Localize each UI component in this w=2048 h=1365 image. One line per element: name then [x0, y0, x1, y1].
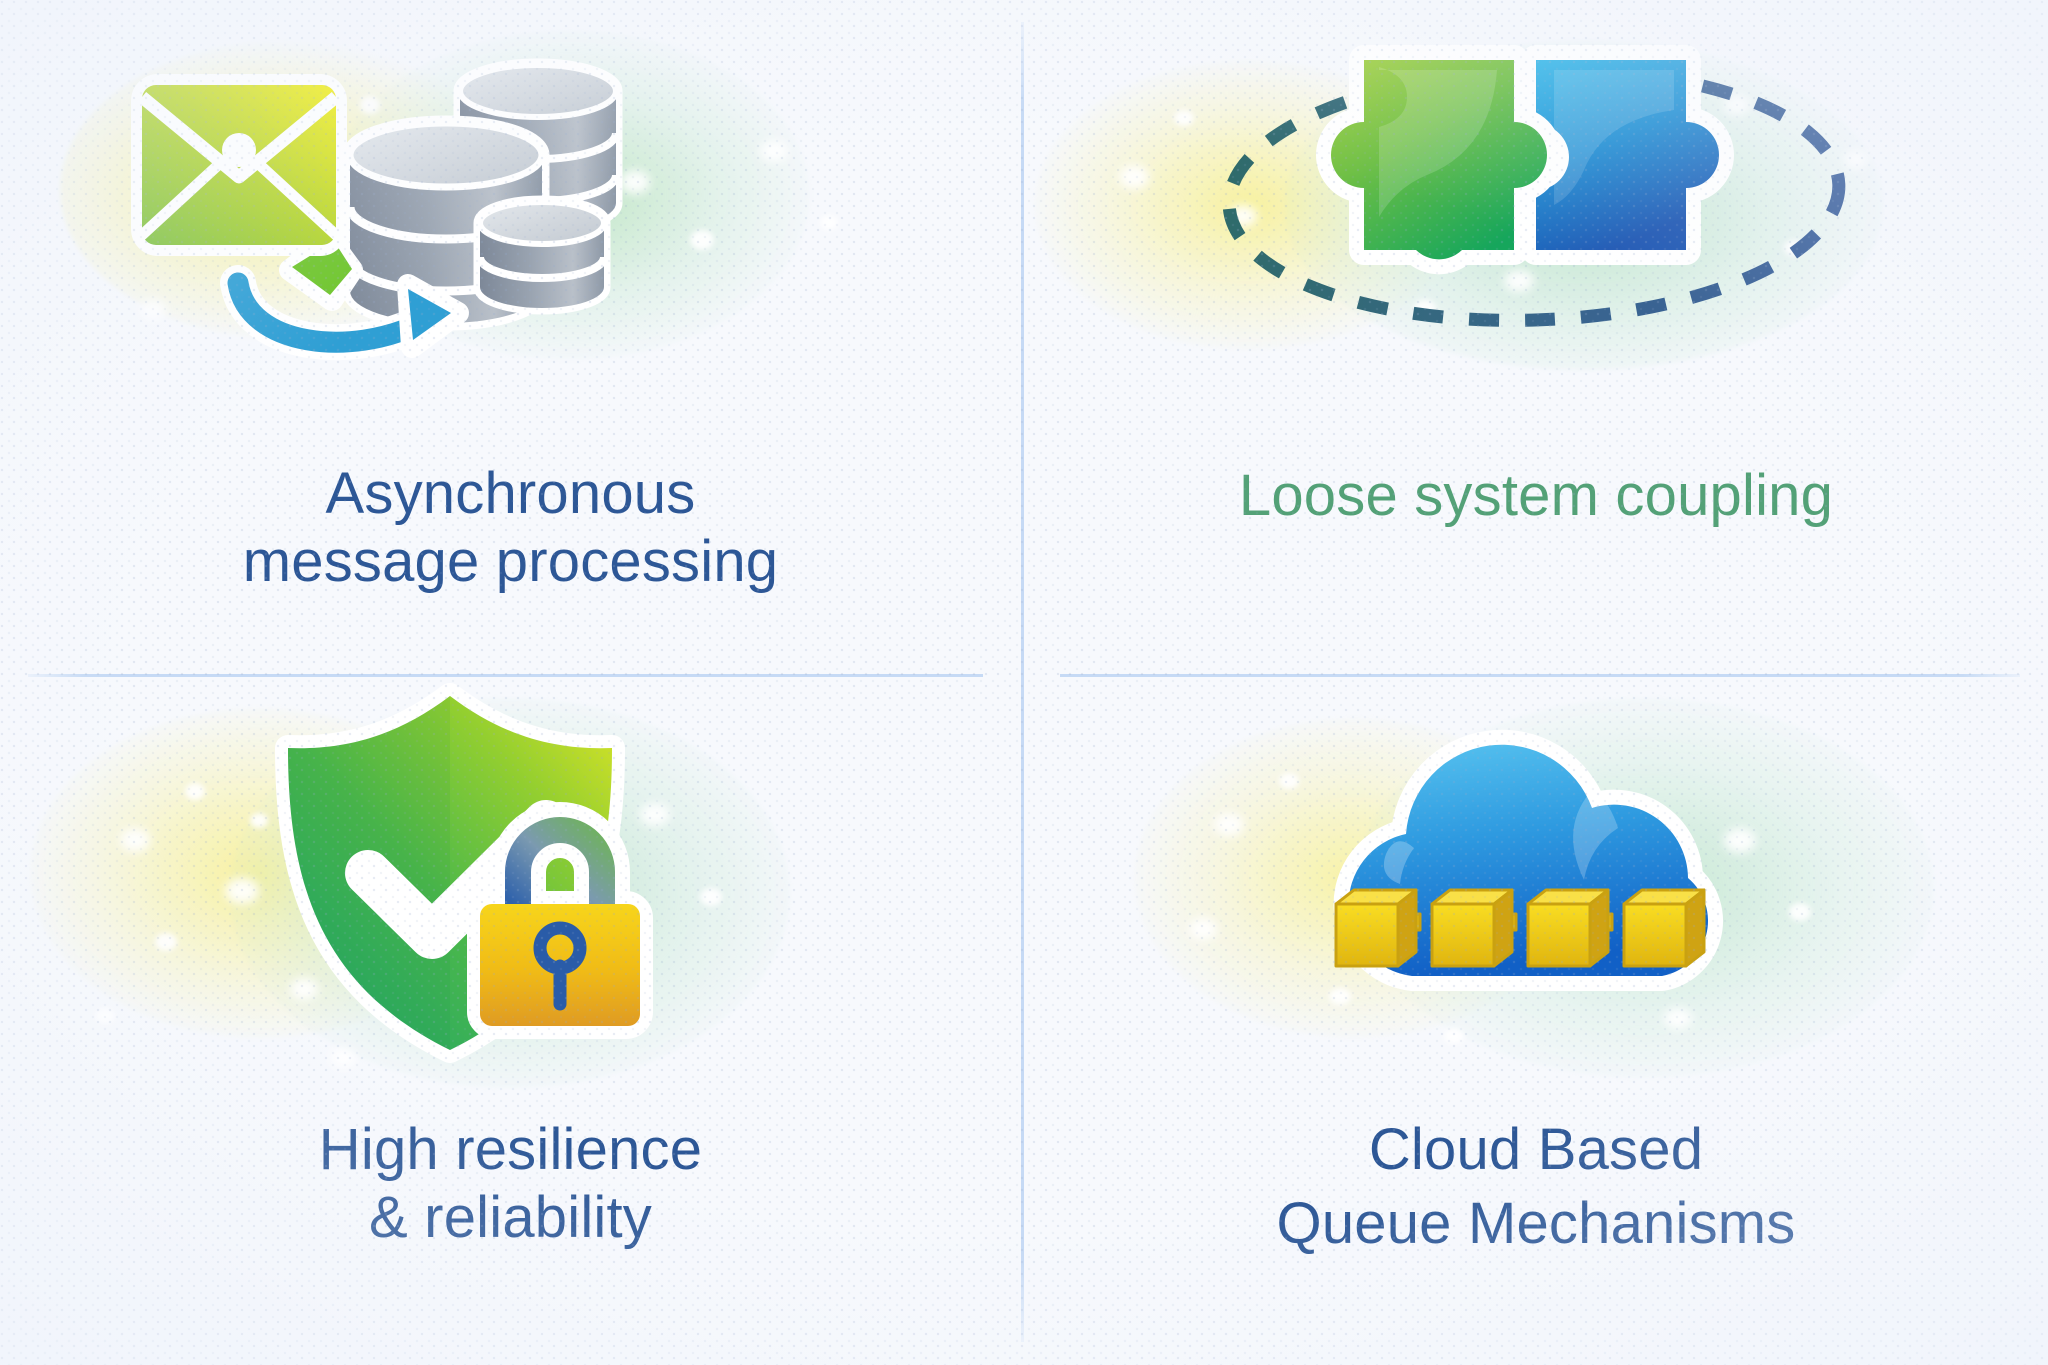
- bokeh-dot: [95, 1008, 115, 1024]
- queue-box: [1528, 890, 1608, 966]
- divider-horizontal-left: [28, 674, 983, 677]
- quadrant-cloud-based-queue-mechanisms: Cloud Based Queue Mechanisms: [1024, 678, 2048, 1365]
- bokeh-dot: [700, 888, 722, 906]
- caption-line: message processing: [0, 528, 1021, 596]
- bokeh-dot: [155, 933, 177, 951]
- caption-high-resilience-reliability: High resilience & reliability: [0, 1116, 1021, 1253]
- envelope-to-database-icon: [120, 55, 820, 355]
- quadrant-high-resilience-reliability: High resilience & reliability: [0, 678, 1021, 1365]
- queue-box: [1336, 890, 1416, 966]
- puzzle-piece-blue: [1536, 60, 1719, 250]
- database-small: [480, 202, 604, 308]
- caption-line: Asynchronous: [0, 460, 1021, 528]
- puzzle-piece-green: [1331, 60, 1547, 259]
- caption-line: Loose system coupling: [1024, 462, 2048, 530]
- bokeh-dot: [120, 828, 150, 852]
- caption-line: Queue Mechanisms: [1024, 1187, 2048, 1261]
- bokeh-dot: [1119, 165, 1149, 189]
- caption-cloud-based-queue-mechanisms: Cloud Based Queue Mechanisms: [1024, 1113, 2048, 1261]
- divider-vertical: [1021, 22, 1024, 1342]
- caption-line: High resilience: [0, 1116, 1021, 1184]
- caption-line: & reliability: [0, 1184, 1021, 1252]
- caption-line: Cloud Based: [1024, 1113, 2048, 1187]
- queue-box: [1624, 890, 1704, 966]
- bokeh-dot: [1214, 813, 1244, 836]
- shield-lock-icon: [250, 668, 670, 1088]
- puzzle-pieces-icon: [1174, 35, 1904, 345]
- queue-box: [1432, 890, 1512, 966]
- bokeh-dot: [1189, 918, 1217, 940]
- infographic-board: Asynchronous message processing: [0, 0, 2048, 1365]
- caption-asynchronous-message-processing: Asynchronous message processing: [0, 460, 1021, 597]
- caption-loose-system-coupling: Loose system coupling: [1024, 462, 2048, 530]
- bokeh-dot: [185, 783, 205, 800]
- divider-horizontal-right: [1060, 674, 2020, 677]
- cloud-queue-icon: [1294, 718, 1794, 1038]
- quadrant-loose-system-coupling: Loose system coupling: [1024, 0, 2048, 675]
- quadrant-asynchronous-message-processing: Asynchronous message processing: [0, 0, 1021, 675]
- bokeh-dot: [820, 215, 838, 230]
